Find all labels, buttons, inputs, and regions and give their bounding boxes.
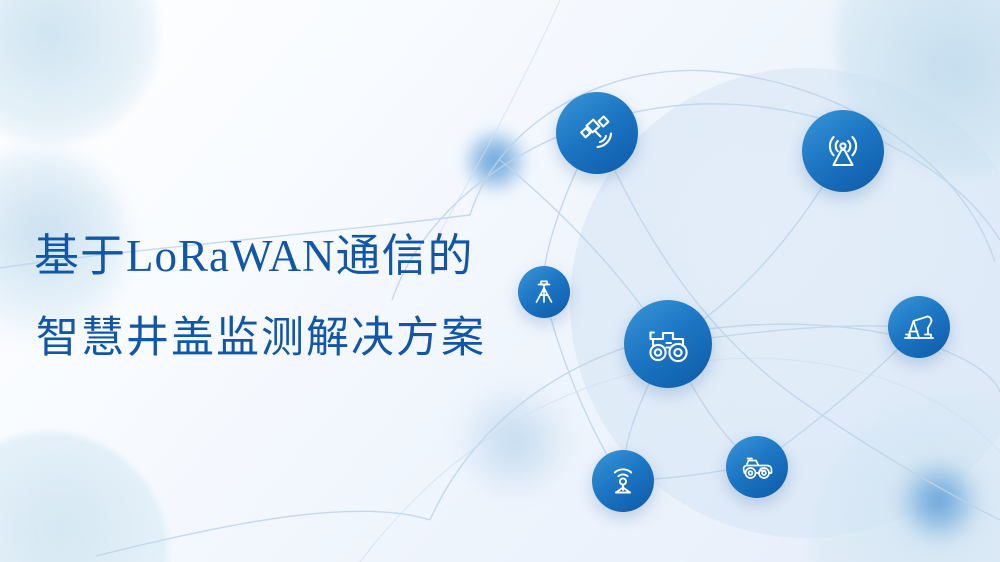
oil-pumpjack-icon-node[interactable] (888, 296, 950, 358)
satellite-icon-node[interactable] (556, 92, 638, 174)
title-line-primary: 基于LoRaWAN通信的 (34, 228, 574, 284)
background-dot-bright-left (462, 128, 528, 194)
broadcast-tower-icon-node[interactable] (802, 110, 884, 192)
signal-sensor-icon (605, 463, 641, 499)
background-dot-soft (455, 382, 573, 500)
background-blob-bottom-right (810, 395, 1000, 562)
utility-vehicle-icon (738, 448, 776, 486)
signal-sensor-icon-node[interactable] (592, 450, 654, 512)
background-blob-top-left (0, 0, 160, 145)
tractor-icon-node[interactable] (624, 300, 712, 388)
title-line-secondary: 智慧井盖监测解决方案 (36, 310, 574, 366)
background-dot-bright-right (898, 460, 980, 542)
broadcast-tower-icon (820, 128, 866, 174)
satellite-icon (575, 111, 619, 155)
slide-canvas: 基于LoRaWAN通信的 智慧井盖监测解决方案 (0, 0, 1000, 562)
background-blob-bottom-left (0, 432, 168, 562)
tractor-icon (642, 318, 694, 370)
title-block: 基于LoRaWAN通信的 智慧井盖监测解决方案 (34, 228, 574, 366)
utility-vehicle-icon-node[interactable] (726, 436, 788, 498)
oil-pumpjack-icon (900, 308, 938, 346)
